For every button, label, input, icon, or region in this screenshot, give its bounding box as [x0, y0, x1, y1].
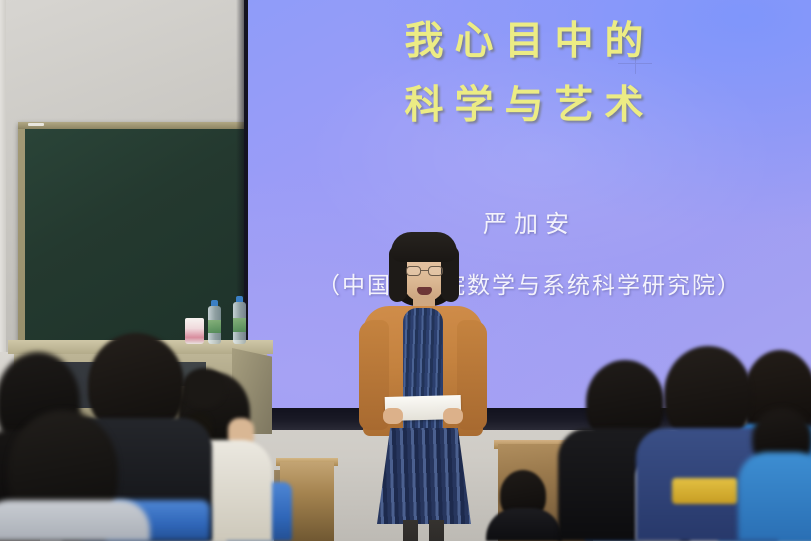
- speaker-skirt: [377, 428, 471, 524]
- audience-body-r4-uniform: [738, 452, 811, 541]
- speaker-figure: [355, 232, 490, 541]
- speaker-leg-right: [429, 520, 444, 541]
- paper-cup: [185, 318, 204, 344]
- speaker-hand-right: [443, 408, 463, 424]
- speaker-glasses-left: [406, 266, 421, 276]
- slide-title-line-1: 我心目中的: [248, 10, 811, 66]
- slide-title-line-2: 科学与艺术: [248, 74, 811, 130]
- speaker-glasses-right: [428, 266, 443, 276]
- slide-affiliation: （中国科学院数学与系统科学研究院）: [248, 266, 811, 300]
- water-bottle-2: [233, 302, 246, 344]
- uniform-logo-badge: [672, 478, 738, 504]
- chalk-piece: [28, 123, 44, 126]
- wall-left-edge: [0, 0, 6, 360]
- speaker-mouth: [417, 287, 432, 295]
- projection-screen: 我心目中的 科学与艺术 严加安 （中国科学院数学与系统科学研究院）: [248, 0, 811, 410]
- lecture-photo-scene: 我心目中的 科学与艺术 严加安 （中国科学院数学与系统科学研究院）: [0, 0, 811, 541]
- speaker-hand-left: [383, 408, 403, 424]
- speaker-glasses-bridge: [421, 270, 428, 271]
- speaker-leg-left: [403, 520, 418, 541]
- speaker-hair-front: [391, 232, 457, 262]
- audience-body-l2: [0, 500, 150, 541]
- water-bottle-1: [208, 306, 221, 344]
- slide-speaker-name: 严加安: [248, 204, 811, 239]
- chalk-rail: [18, 122, 245, 129]
- audience-hair-bun: [182, 368, 226, 408]
